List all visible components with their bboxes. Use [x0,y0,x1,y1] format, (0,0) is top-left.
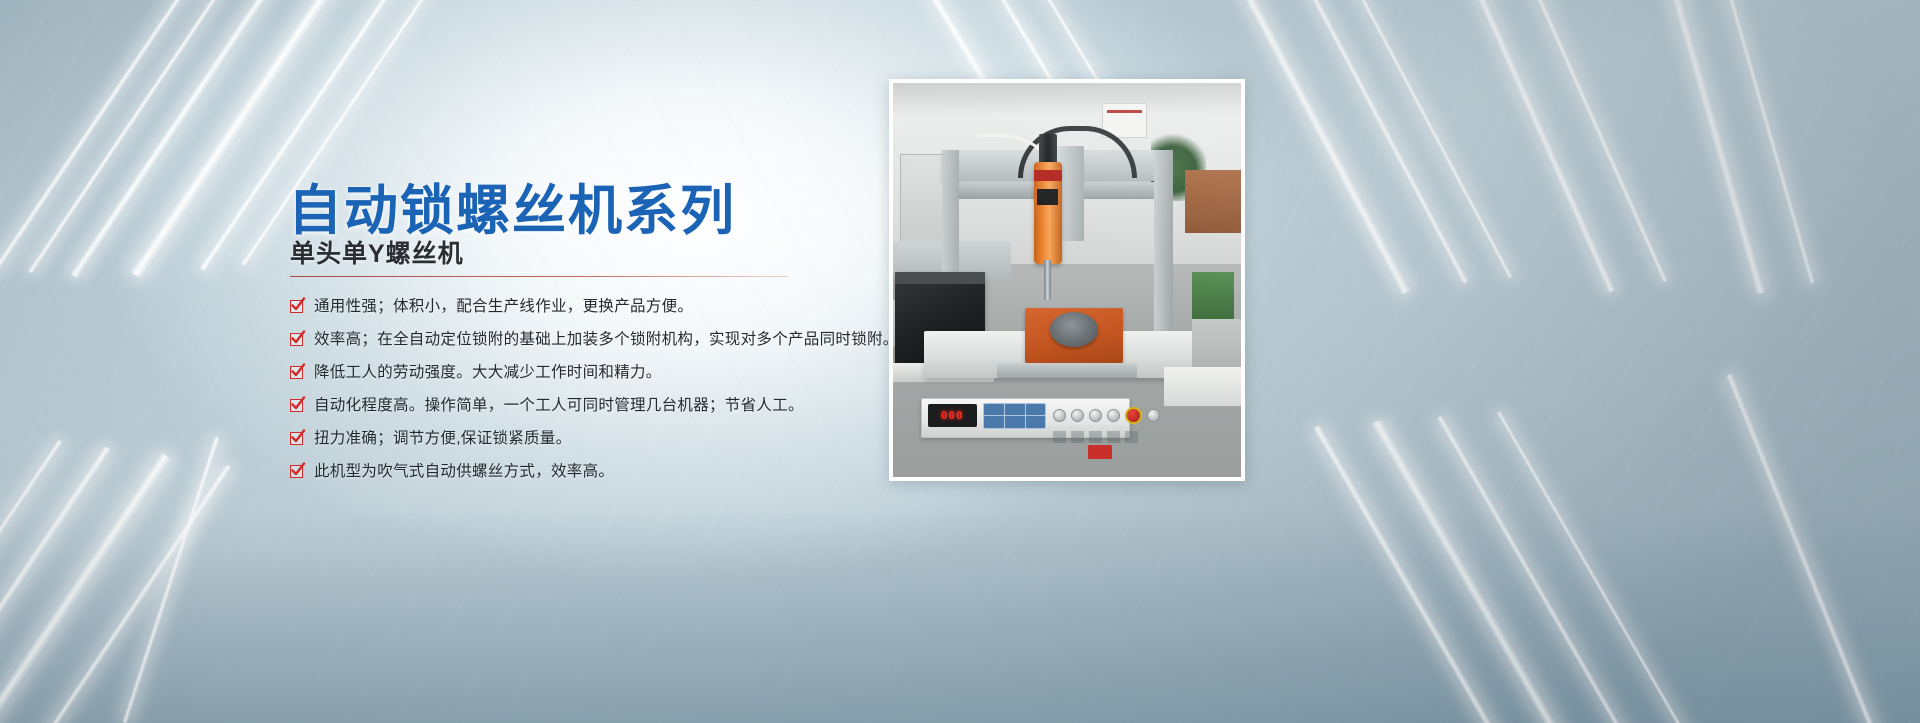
feature-text: 自动化程度高。操作简单，一个工人可同时管理几台机器；节省人工。 [314,391,804,421]
list-item: 降低工人的劳动强度。大大减少工作时间和精力。 [290,358,910,388]
check-icon [290,465,303,478]
list-item: 效率高；在全自动定位锁附的基础上加装多个锁附机构，实现对多个产品同时锁附。 [290,325,910,355]
list-item: 扭力准确；调节方便,保证锁紧质量。 [290,424,910,454]
product-photo: 000 [889,79,1245,481]
product-subtitle: 单头单Y螺丝机 [290,234,464,270]
list-item: 通用性强；体积小，配合生产线作业，更换产品方便。 [290,292,910,322]
feature-text: 效率高；在全自动定位锁附的基础上加装多个锁附机构，实现对多个产品同时锁附。 [314,325,899,355]
feature-list: 通用性强；体积小，配合生产线作业，更换产品方便。 效率高；在全自动定位锁附的基础… [290,292,910,490]
divider-rule [290,276,788,277]
list-item: 自动化程度高。操作简单，一个工人可同时管理几台机器；节省人工。 [290,391,910,421]
product-banner: 自动锁螺丝机系列 单头单Y螺丝机 通用性强；体积小，配合生产线作业，更换产品方便… [0,0,1920,723]
check-icon [290,399,303,412]
feature-text: 此机型为吹气式自动供螺丝方式，效率高。 [314,457,614,487]
banner-content: 自动锁螺丝机系列 单头单Y螺丝机 通用性强；体积小，配合生产线作业，更换产品方便… [0,0,1920,723]
photo-highlight [893,83,1241,477]
check-icon [290,432,303,445]
feature-text: 通用性强；体积小，配合生产线作业，更换产品方便。 [314,292,693,322]
feature-text: 扭力准确；调节方便,保证锁紧质量。 [314,424,571,454]
product-photo-image: 000 [893,83,1241,477]
check-icon [290,300,303,313]
list-item: 此机型为吹气式自动供螺丝方式，效率高。 [290,457,910,487]
check-icon [290,333,303,346]
feature-text: 降低工人的劳动强度。大大减少工作时间和精力。 [314,358,662,388]
check-icon [290,366,303,379]
